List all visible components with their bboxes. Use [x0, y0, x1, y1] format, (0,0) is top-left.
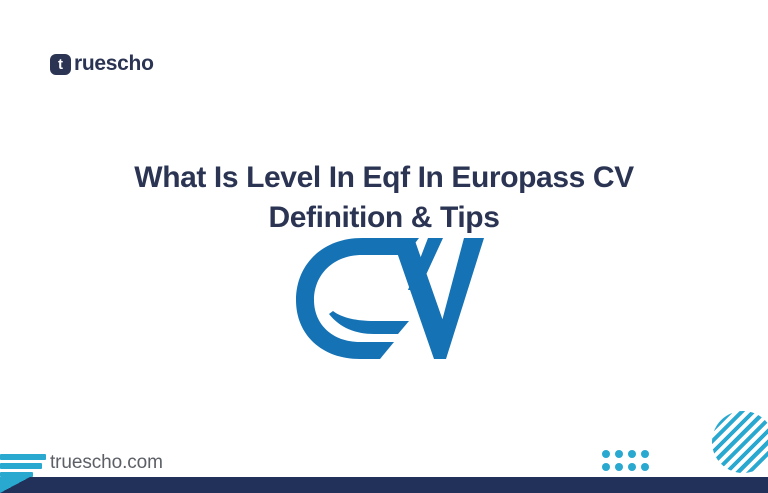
slide-canvas: t ruescho What Is Level In Eqf In Europa… [0, 0, 768, 493]
footer-bottom-bar [0, 477, 768, 493]
stacked-bar-2 [0, 463, 42, 469]
grid-dot [641, 450, 649, 458]
grid-dot [641, 463, 649, 471]
cv-monogram-icon [288, 232, 484, 364]
grid-dot [615, 450, 623, 458]
brand-name-label: ruescho [74, 52, 154, 76]
grid-dot [628, 450, 636, 458]
grid-dot [602, 450, 610, 458]
dot-grid-icon [602, 450, 650, 472]
grid-dot [615, 463, 623, 471]
brand-logo[interactable]: t ruescho [50, 52, 154, 76]
footer-website-url[interactable]: truescho.com [50, 452, 163, 474]
stacked-bar-1 [0, 454, 46, 460]
grid-dot [628, 463, 636, 471]
corner-wedge-icon [0, 477, 30, 493]
stacked-bars-icon [0, 454, 46, 476]
grid-dot [602, 463, 610, 471]
page-title: What Is Level In Eqf In Europass CV Defi… [84, 158, 684, 237]
striped-circle-icon [712, 411, 768, 473]
brand-mark-icon: t [50, 54, 71, 75]
